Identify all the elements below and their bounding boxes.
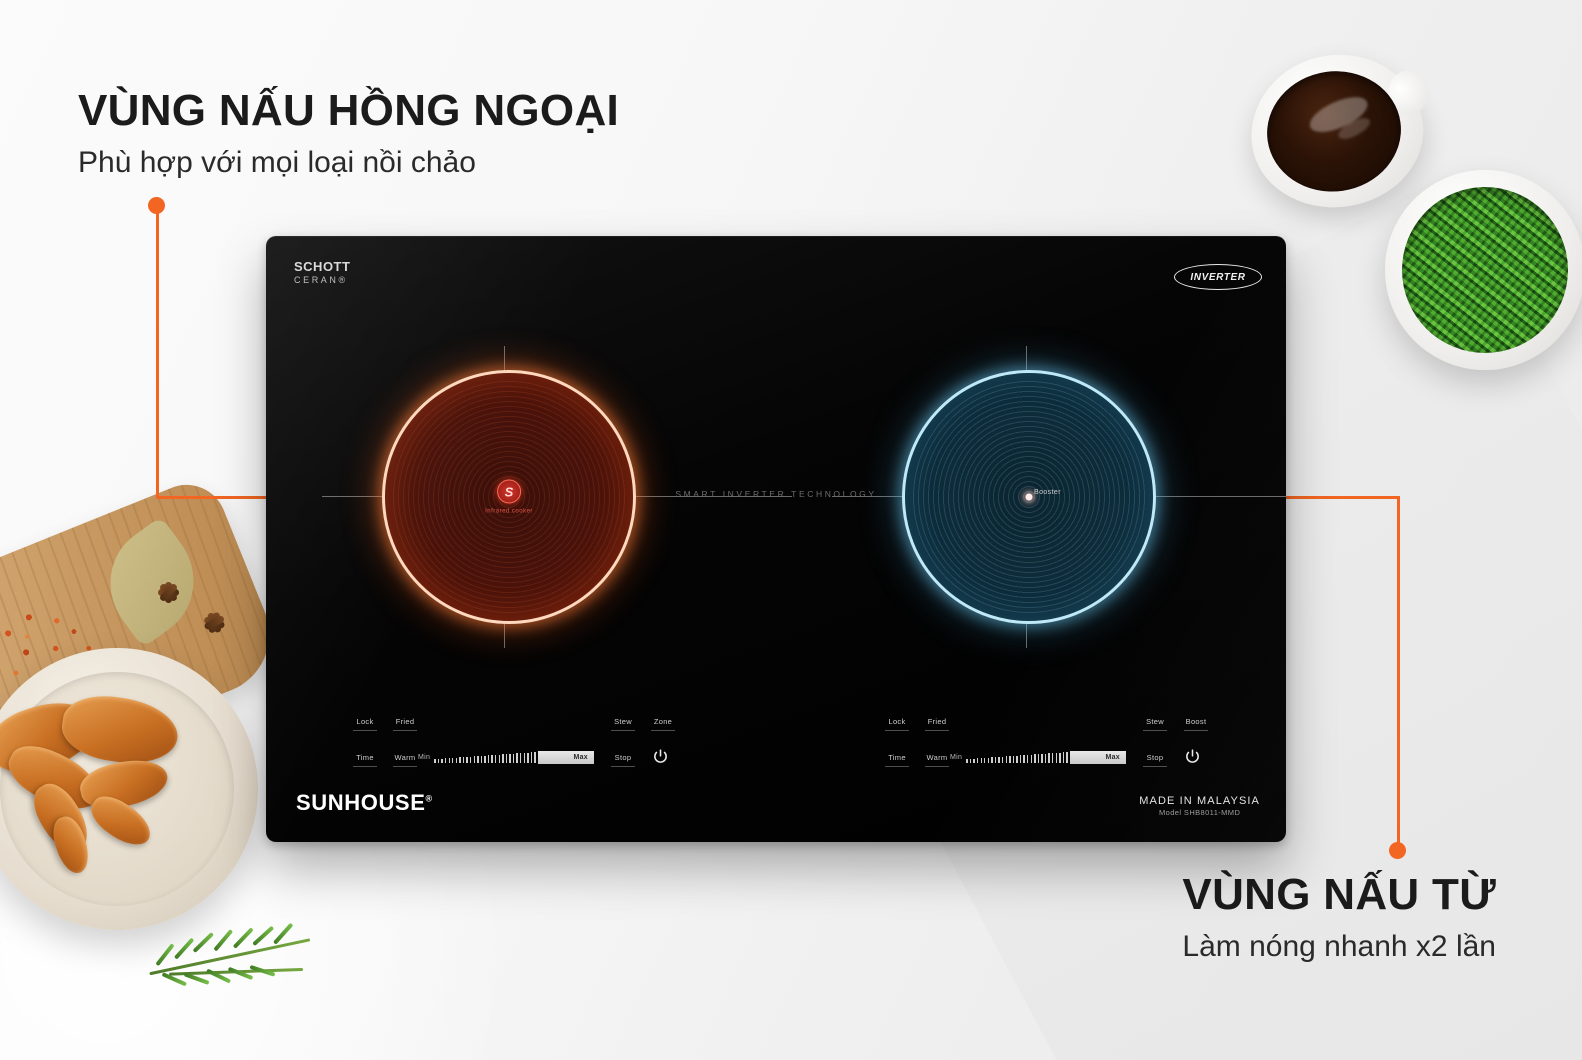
model-number: Model SHB8011-MMD — [1139, 808, 1260, 818]
fried-chicken — [0, 692, 198, 882]
schott-ceran-logo: SCHOTT CERAN® — [294, 260, 350, 285]
button-fried-right[interactable]: Fried — [922, 718, 952, 731]
greens-bowl — [1385, 170, 1582, 370]
button-stop-right[interactable]: Stop — [1140, 754, 1170, 767]
origin-block: MADE IN MALAYSIA Model SHB8011-MMD — [1139, 794, 1260, 818]
slider-ticks — [966, 752, 1068, 763]
leader-dot-left — [148, 197, 165, 214]
smart-inverter-technology-text: SMART INVERTER TECHNOLOGY — [675, 489, 876, 499]
button-time-right[interactable]: Time — [882, 754, 912, 767]
button-underline — [1143, 730, 1167, 731]
button-underline — [885, 730, 909, 731]
slider-min-label: Min — [950, 754, 962, 761]
button-underline — [925, 730, 949, 731]
slider-max-label: Max — [1105, 754, 1120, 761]
leader-line-right-vertical — [1397, 496, 1400, 850]
callout-induction-subtitle: Làm nóng nhanh x2 lần — [1182, 928, 1496, 966]
callout-induction-title: VÙNG NẤU TỪ — [1182, 872, 1496, 918]
leader-line-left-vertical — [156, 205, 159, 498]
callout-infrared-title: VÙNG NẤU HỒNG NGOẠI — [78, 88, 619, 134]
sunhouse-s-icon: S — [497, 480, 521, 504]
callout-induction: VÙNG NẤU TỪ Làm nóng nhanh x2 lần — [1182, 872, 1496, 966]
infrared-emblem-text: Infrared cooker — [485, 509, 533, 515]
callout-infrared-subtitle: Phù hợp với mọi loại nồi chảo — [78, 144, 619, 182]
button-underline — [885, 766, 909, 767]
infrared-emblem: S Infrared cooker — [485, 480, 533, 515]
control-panel-right: Lock Fried Stew Boost Time Warm — [266, 712, 1286, 802]
cooktop-panel: SCHOTT CERAN® INVERTER S Infrared cooker… — [266, 236, 1286, 842]
power-slider-right[interactable]: Min Max — [950, 750, 1126, 765]
star-anise-icon — [146, 570, 190, 614]
schott-logo-line1: SCHOTT — [294, 260, 350, 273]
booster-label: Booster — [1034, 489, 1061, 496]
button-underline — [925, 766, 949, 767]
sunhouse-logo-text: SUNHOUSE — [296, 790, 426, 815]
infrared-cooking-zone[interactable]: S Infrared cooker — [382, 370, 636, 624]
inverter-badge-label: INVERTER — [1190, 272, 1245, 283]
slider-filled-track: Max — [1070, 751, 1126, 764]
induction-cooking-zone[interactable] — [902, 370, 1156, 624]
made-in-text: MADE IN MALAYSIA — [1139, 794, 1260, 808]
button-stew-right[interactable]: Stew — [1140, 718, 1170, 731]
schott-logo-line2: CERAN® — [294, 276, 350, 285]
button-underline — [1143, 766, 1167, 767]
registered-mark: ® — [426, 794, 433, 804]
promo-canvas: VÙNG NẤU HỒNG NGOẠI Phù hợp với mọi loại… — [0, 0, 1582, 1060]
chopped-greens — [1402, 187, 1568, 353]
button-warm-right[interactable]: Warm — [922, 754, 952, 767]
power-icon-right[interactable] — [1184, 748, 1201, 765]
inverter-badge: INVERTER — [1174, 264, 1262, 290]
button-underline — [1184, 730, 1208, 731]
callout-infrared: VÙNG NẤU HỒNG NGOẠI Phù hợp với mọi loại… — [78, 88, 619, 182]
button-boost-right[interactable]: Boost — [1180, 718, 1212, 731]
sunhouse-logo: SUNHOUSE® — [296, 790, 433, 816]
induction-center-point — [1026, 494, 1033, 501]
sauce-surface — [1259, 63, 1408, 200]
button-lock-right[interactable]: Lock — [882, 718, 912, 731]
leader-dot-right — [1389, 842, 1406, 859]
